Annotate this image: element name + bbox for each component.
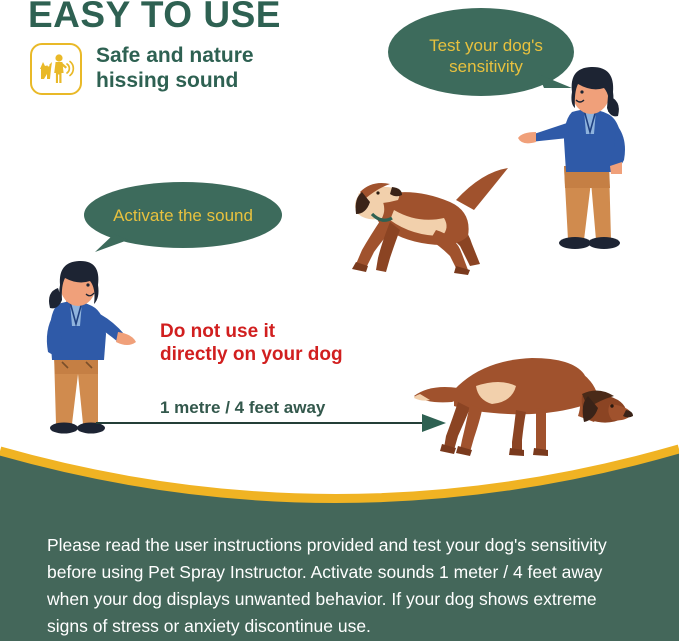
speech-bubble-activate-sound: Activate the sound (84, 182, 282, 260)
jumping-dog-illustration (332, 166, 510, 276)
hissing-sound-icon-box (30, 43, 82, 95)
speech-bubble-shape (84, 182, 282, 260)
bottom-banner: Please read the user instructions provid… (0, 440, 679, 641)
feature-row: Safe and nature hissing sound (30, 43, 254, 95)
page-title: EASY TO USE (28, 0, 281, 36)
distance-arrow-icon (96, 412, 448, 434)
person-hissing-at-cat-icon (36, 49, 76, 89)
feature-label: Safe and nature hissing sound (96, 44, 254, 94)
warning-text: Do not use it directly on your dog (160, 320, 343, 366)
banner-instructions-text: Please read the user instructions provid… (47, 532, 639, 641)
easy-to-use-infographic: EASY TO USE Safe and nature hissing soun… (0, 0, 679, 641)
woman-pointing-left-illustration (512, 62, 644, 282)
